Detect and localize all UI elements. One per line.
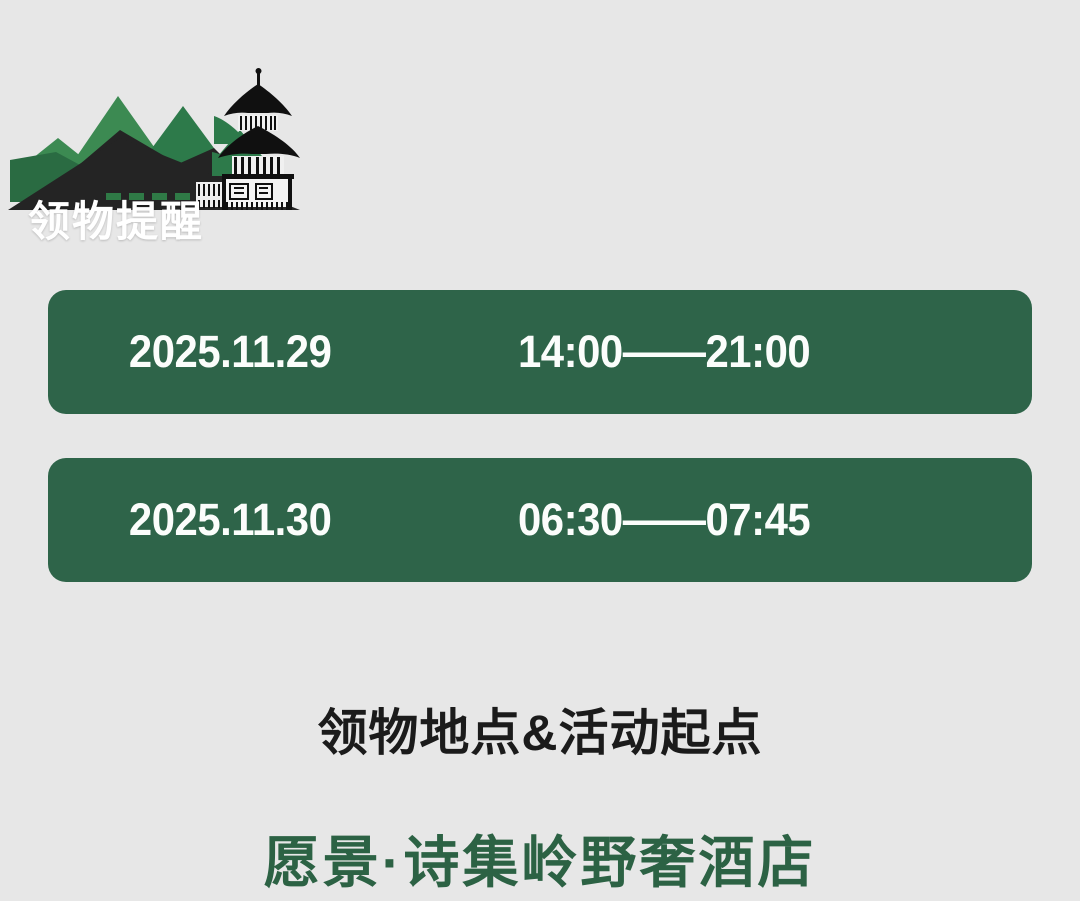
venue-name: 愿景·诗集岭野奢酒店 (0, 832, 1080, 894)
schedule-date-1: 2025.11.29 (48, 326, 485, 378)
pagoda-post-left-shape (222, 179, 226, 210)
schedule-date-2: 2025.11.30 (48, 494, 485, 546)
pagoda-window-bar-c-shape (259, 187, 268, 189)
pagoda-icon (196, 68, 300, 210)
pagoda-window-bar-b-shape (234, 192, 244, 194)
pagoda-post-right-shape (288, 179, 292, 210)
pagoda-eave-lower-shape (222, 174, 294, 179)
schedule-row-2[interactable]: 2025.11.30 06:30——07:45 (48, 458, 1032, 582)
pagoda-roof-top-shape (224, 84, 292, 116)
schedule-time-2: 06:30——07:45 (518, 494, 996, 546)
schedule-row-1[interactable]: 2025.11.29 14:00——21:00 (48, 290, 1032, 414)
logo-title: 领物提醒 (28, 201, 204, 243)
pagoda-finial-shape (257, 72, 260, 86)
pagoda-finial-ball-shape (256, 68, 262, 74)
pagoda-window-bar-a-shape (234, 187, 244, 189)
schedule-time-1: 14:00——21:00 (518, 326, 996, 378)
logo-banner: 领物提醒 (0, 60, 340, 225)
pagoda-window-bar-d-shape (259, 192, 268, 194)
schedule-list: 2025.11.29 14:00——21:00 2025.11.30 06:30… (48, 290, 1032, 626)
venue-heading: 领物地点&活动起点 (0, 706, 1080, 761)
